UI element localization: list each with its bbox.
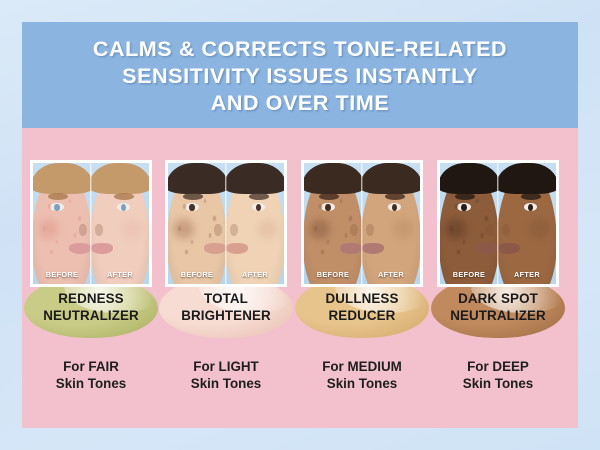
product-name: DARK SPOT NEUTRALIZER bbox=[430, 291, 566, 324]
before-label: BEFORE bbox=[440, 270, 498, 279]
iris bbox=[528, 204, 533, 211]
lips bbox=[362, 243, 384, 254]
product-cards-row: BEFORE AFTER REDNESS NEUTRALIZER For FAI… bbox=[22, 128, 578, 428]
face-half-after bbox=[362, 163, 420, 284]
before-after-labels: BEFORE AFTER bbox=[168, 270, 284, 279]
cheek-flush bbox=[309, 219, 330, 240]
face-half-before bbox=[33, 163, 91, 284]
header-line-3: AND OVER TIME bbox=[211, 90, 390, 117]
product-name-line-2: BRIGHTENER bbox=[158, 308, 294, 325]
skin-tone-caption: For LIGHT Skin Tones bbox=[151, 358, 301, 392]
product-card[interactable]: BEFORE AFTER TOTAL BRIGHTENER For LIGHT … bbox=[165, 160, 287, 287]
before-label: BEFORE bbox=[33, 270, 91, 279]
before-after-photo-frame: BEFORE AFTER bbox=[165, 160, 287, 287]
eyebrow bbox=[48, 193, 68, 200]
skin-tone-line-1: For FAIR bbox=[16, 358, 166, 375]
blemish-mark bbox=[50, 250, 52, 254]
lips bbox=[69, 243, 91, 254]
after-label: AFTER bbox=[362, 270, 420, 279]
product-card[interactable]: BEFORE AFTER REDNESS NEUTRALIZER For FAI… bbox=[30, 160, 152, 287]
eyebrow bbox=[319, 193, 339, 200]
blemish-mark bbox=[213, 216, 215, 220]
blemish-mark bbox=[455, 204, 458, 209]
blemish-mark bbox=[349, 216, 351, 220]
blemish-mark bbox=[178, 226, 181, 231]
skin-tone-line-1: For LIGHT bbox=[151, 358, 301, 375]
header-line-1: CALMS & CORRECTS TONE-RELATED bbox=[93, 36, 507, 63]
before-after-photo-frame: BEFORE AFTER bbox=[437, 160, 559, 287]
cheek-flush bbox=[445, 219, 466, 240]
product-name-line-1: DULLNESS bbox=[294, 291, 430, 308]
blemish-mark bbox=[185, 250, 187, 254]
face-half-after bbox=[226, 163, 284, 284]
hair-shape bbox=[33, 163, 91, 194]
product-name: REDNESS NEUTRALIZER bbox=[23, 291, 159, 324]
iris bbox=[325, 204, 330, 211]
product-name: TOTAL BRIGHTENER bbox=[158, 291, 294, 324]
face-half-before bbox=[304, 163, 362, 284]
lips bbox=[91, 243, 113, 254]
product-card[interactable]: BEFORE AFTER DULLNESS REDUCER For MEDIUM… bbox=[301, 160, 423, 287]
after-label: AFTER bbox=[226, 270, 284, 279]
before-after-photo: BEFORE AFTER bbox=[33, 163, 149, 284]
product-name-line-1: DARK SPOT bbox=[430, 291, 566, 308]
after-label: AFTER bbox=[498, 270, 556, 279]
skin-tone-line-2: Skin Tones bbox=[423, 375, 573, 392]
blemish-mark bbox=[485, 216, 487, 220]
skin-tone-caption: For FAIR Skin Tones bbox=[16, 358, 166, 392]
product-name-line-1: TOTAL bbox=[158, 291, 294, 308]
before-after-labels: BEFORE AFTER bbox=[440, 270, 556, 279]
product-card[interactable]: BEFORE AFTER DARK SPOT NEUTRALIZER For D… bbox=[437, 160, 559, 287]
header-banner: CALMS & CORRECTS TONE-RELATED SENSITIVIT… bbox=[22, 22, 578, 128]
infographic-root: CALMS & CORRECTS TONE-RELATED SENSITIVIT… bbox=[0, 0, 600, 450]
product-name-line-1: REDNESS bbox=[23, 291, 159, 308]
before-after-labels: BEFORE AFTER bbox=[33, 270, 149, 279]
iris bbox=[121, 204, 126, 211]
before-after-labels: BEFORE AFTER bbox=[304, 270, 420, 279]
nose bbox=[350, 224, 358, 236]
before-after-divider bbox=[225, 163, 226, 284]
face-half-after bbox=[91, 163, 149, 284]
iris bbox=[256, 204, 261, 211]
before-after-photo: BEFORE AFTER bbox=[304, 163, 420, 284]
blemish-mark bbox=[183, 204, 186, 209]
hair-shape bbox=[304, 163, 362, 194]
lips bbox=[226, 243, 248, 254]
nose bbox=[230, 224, 238, 236]
iris bbox=[189, 204, 194, 211]
after-label: AFTER bbox=[91, 270, 149, 279]
skin-tone-line-1: For DEEP bbox=[423, 358, 573, 375]
before-label: BEFORE bbox=[168, 270, 226, 279]
cheek-flush bbox=[38, 219, 59, 240]
hair-shape bbox=[498, 163, 556, 194]
hair-shape bbox=[226, 163, 284, 194]
hair-shape bbox=[168, 163, 226, 194]
eyebrow bbox=[455, 193, 475, 200]
iris bbox=[392, 204, 397, 211]
blemish-mark bbox=[314, 226, 317, 231]
before-after-photo-frame: BEFORE AFTER bbox=[301, 160, 423, 287]
lips bbox=[340, 243, 362, 254]
blemish-mark bbox=[43, 226, 46, 231]
nose bbox=[486, 224, 494, 236]
product-name: DULLNESS REDUCER bbox=[294, 291, 430, 324]
product-name-line-2: REDUCER bbox=[294, 308, 430, 325]
skin-tone-caption: For DEEP Skin Tones bbox=[423, 358, 573, 392]
iris bbox=[461, 204, 466, 211]
hair-shape bbox=[440, 163, 498, 194]
eyebrow bbox=[385, 193, 405, 200]
lips bbox=[204, 243, 226, 254]
before-label: BEFORE bbox=[304, 270, 362, 279]
nose bbox=[366, 224, 374, 236]
skin-tone-line-1: For MEDIUM bbox=[287, 358, 437, 375]
before-after-photo: BEFORE AFTER bbox=[440, 163, 556, 284]
blemish-mark bbox=[78, 216, 80, 220]
blemish-mark bbox=[321, 250, 323, 254]
nose bbox=[502, 224, 510, 236]
before-after-photo-frame: BEFORE AFTER bbox=[30, 160, 152, 287]
face-half-before bbox=[168, 163, 226, 284]
eyebrow bbox=[249, 193, 269, 200]
nose bbox=[95, 224, 103, 236]
face-half-after bbox=[498, 163, 556, 284]
eyebrow bbox=[521, 193, 541, 200]
product-panel: BEFORE AFTER REDNESS NEUTRALIZER For FAI… bbox=[22, 128, 578, 428]
hair-shape bbox=[362, 163, 420, 194]
blemish-mark bbox=[457, 250, 459, 254]
eyebrow bbox=[114, 193, 134, 200]
hair-shape bbox=[91, 163, 149, 194]
cheek-flush bbox=[173, 219, 194, 240]
eyebrow bbox=[183, 193, 203, 200]
blemish-mark bbox=[450, 226, 453, 231]
before-after-divider bbox=[90, 163, 91, 284]
skin-tone-caption: For MEDIUM Skin Tones bbox=[287, 358, 437, 392]
nose bbox=[79, 224, 87, 236]
before-after-photo: BEFORE AFTER bbox=[168, 163, 284, 284]
nose bbox=[214, 224, 222, 236]
blemish-mark bbox=[319, 204, 322, 209]
skin-tone-line-2: Skin Tones bbox=[287, 375, 437, 392]
blemish-mark bbox=[48, 204, 51, 209]
product-name-line-2: NEUTRALIZER bbox=[23, 308, 159, 325]
face-half-before bbox=[440, 163, 498, 284]
skin-tone-line-2: Skin Tones bbox=[16, 375, 166, 392]
lips bbox=[476, 243, 498, 254]
lips bbox=[498, 243, 520, 254]
iris bbox=[54, 204, 59, 211]
before-after-divider bbox=[361, 163, 362, 284]
product-name-line-2: NEUTRALIZER bbox=[430, 308, 566, 325]
skin-tone-line-2: Skin Tones bbox=[151, 375, 301, 392]
header-line-2: SENSITIVITY ISSUES INSTANTLY bbox=[122, 63, 478, 90]
before-after-divider bbox=[497, 163, 498, 284]
